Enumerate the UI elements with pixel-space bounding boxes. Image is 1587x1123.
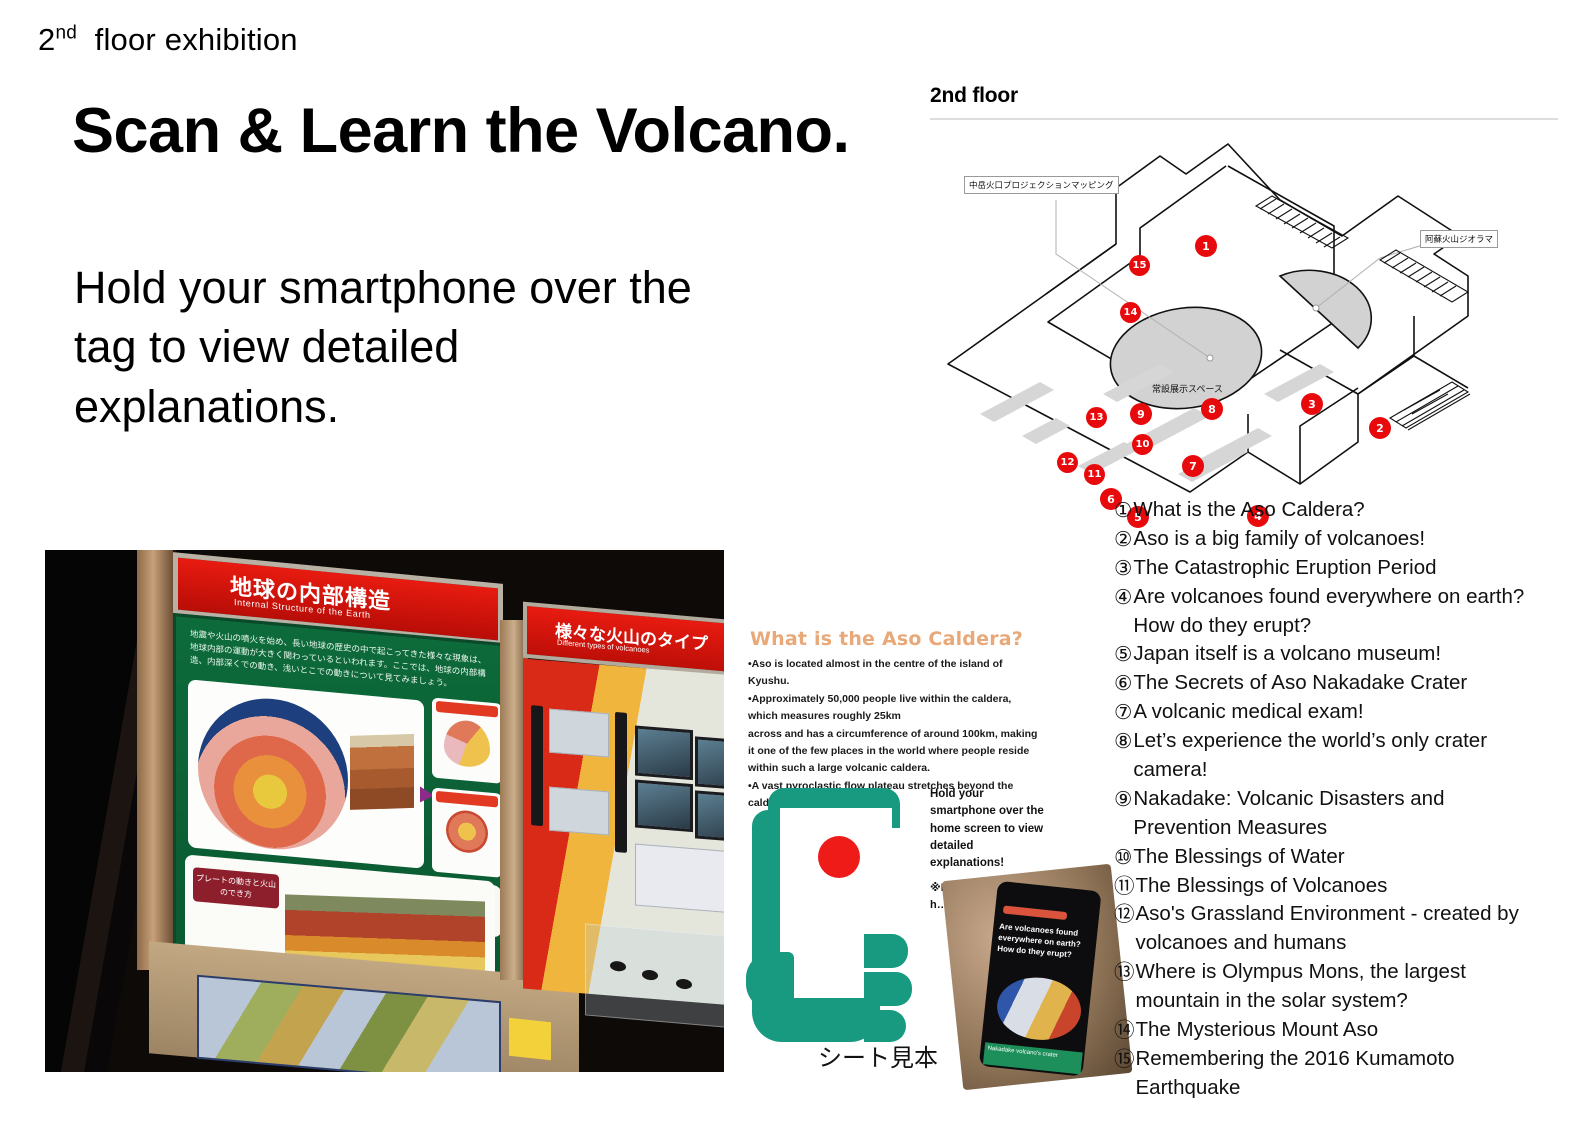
topic-label: The Secrets of Aso Nakadake Crater xyxy=(1133,669,1526,698)
topic-item[interactable]: ⑥The Secrets of Aso Nakadake Crater xyxy=(1114,669,1526,698)
phone-overlay-text: Are volcanoes found everywhere on earth?… xyxy=(997,922,1091,962)
floorplan-pin-13[interactable]: 13 xyxy=(1086,407,1107,428)
topic-label: The Blessings of Volcanoes xyxy=(1136,872,1527,901)
app-title-bar xyxy=(1003,905,1067,920)
topic-item[interactable]: ⑨Nakadake: Volcanic Disasters and Preven… xyxy=(1114,785,1526,843)
topic-number: ⑬ xyxy=(1114,958,1135,987)
topic-number: ⑫ xyxy=(1114,900,1135,929)
topic-label: The Mysterious Mount Aso xyxy=(1136,1016,1527,1045)
photo-display-case xyxy=(585,923,724,1028)
floorplan-pin-2[interactable]: 2 xyxy=(1369,417,1391,439)
topic-label: Where is Olympus Mons, the largest mount… xyxy=(1136,958,1527,1016)
kicker-rest: floor exhibition xyxy=(95,22,298,57)
sheet-hold-instruction: Hold your smartphone over the home scree… xyxy=(930,786,1048,872)
topic-number: ③ xyxy=(1114,554,1132,583)
sheet-bullet-2: •Approximately 50,000 people live within… xyxy=(748,691,1044,725)
nfc-tag-dot-icon xyxy=(818,836,860,878)
topic-number: ⑭ xyxy=(1114,1016,1135,1045)
label-permanent-exhibition-space: 常設展示スペース xyxy=(1152,382,1223,395)
topic-number: ② xyxy=(1114,525,1132,554)
topic-item[interactable]: ③The Catastrophic Eruption Period xyxy=(1114,554,1526,583)
topic-item[interactable]: ⑧Let’s experience the world’s only crate… xyxy=(1114,727,1526,785)
topic-number: ⑨ xyxy=(1114,785,1132,814)
topic-label: Nakadake: Volcanic Disasters and Prevent… xyxy=(1133,785,1526,843)
plate-wedge-graphic xyxy=(444,719,490,769)
lead-instruction: Hold your smartphone over the tag to vie… xyxy=(74,258,714,436)
topic-number: ⑦ xyxy=(1114,698,1132,727)
topic-number: ⑪ xyxy=(1114,872,1135,901)
topic-label: Aso is a big family of volcanoes! xyxy=(1133,525,1526,554)
plates-card-header xyxy=(436,701,498,718)
sheet-bullet-3: across and has a circumference of around… xyxy=(748,726,1044,777)
topic-item[interactable]: ⑤Japan itself is a volcano museum! xyxy=(1114,640,1526,669)
exhibit-photo: 地球の内部構造 Internal Structure of the Earth … xyxy=(45,550,724,1072)
photo-yellow-box xyxy=(509,1018,551,1060)
floorplan-pin-1[interactable]: 1 xyxy=(1195,235,1217,257)
smartphone-device: Are volcanoes found everywhere on earth?… xyxy=(979,881,1102,1077)
page-title: Scan & Learn the Volcano. xyxy=(72,95,850,167)
topic-number: ① xyxy=(1114,496,1132,525)
floorplan-pin-15[interactable]: 15 xyxy=(1129,255,1150,276)
topic-label: What is the Aso Caldera? xyxy=(1133,496,1526,525)
hand-holding-sheet-illustration xyxy=(746,784,924,1054)
floorplan-pin-12[interactable]: 12 xyxy=(1057,452,1078,473)
panel1-plates-card xyxy=(432,697,502,783)
topic-list: ①What is the Aso Caldera?②Aso is a big f… xyxy=(1114,496,1526,1103)
plate-motion-caption: プレートの動きと火山のでき方 xyxy=(193,867,279,909)
label-projection-mapping: 中岳火口プロジェクションマッピング xyxy=(964,176,1119,194)
topic-label: The Blessings of Water xyxy=(1133,843,1526,872)
floorplan-pin-11[interactable]: 11 xyxy=(1084,464,1105,485)
panel2-monitor-4 xyxy=(695,790,724,843)
topic-number: ⑥ xyxy=(1114,669,1132,698)
floorplan-title: 2nd floor xyxy=(930,84,1018,108)
topic-number: ⑤ xyxy=(1114,640,1132,669)
kicker-ordinal-suffix: nd xyxy=(55,23,77,44)
phone-ar-content-icon xyxy=(994,973,1084,1043)
sheet-bullet-1: •Aso is located almost in the centre of … xyxy=(748,656,1044,690)
crust-block-graphic xyxy=(350,734,414,810)
topic-number: ⑮ xyxy=(1114,1045,1135,1074)
topic-label: Let’s experience the world’s only crater… xyxy=(1133,727,1526,785)
panel2-monitor-1 xyxy=(635,726,693,781)
floorplan-pin-3[interactable]: 3 xyxy=(1301,393,1323,415)
topic-item[interactable]: ⑦A volcanic medical exam! xyxy=(1114,698,1526,727)
hand-finger-icon-2 xyxy=(864,972,912,1006)
hand-finger-icon-1 xyxy=(864,934,908,968)
sheet-sample-block: What is the Aso Caldera? •Aso is located… xyxy=(744,624,1060,1074)
topic-label: A volcanic medical exam! xyxy=(1133,698,1526,727)
topic-item[interactable]: ④Are volcanoes found everywhere on earth… xyxy=(1114,583,1526,641)
topic-number: ⑩ xyxy=(1114,843,1132,872)
panel2-vertical-tab-1 xyxy=(531,705,543,826)
panel2-info-strip xyxy=(635,844,724,915)
floorplan-pin-8[interactable]: 8 xyxy=(1201,398,1223,420)
topic-item[interactable]: ⑭The Mysterious Mount Aso xyxy=(1114,1016,1526,1045)
topic-label: Japan itself is a volcano museum! xyxy=(1133,640,1526,669)
topic-item[interactable]: ⑮Remembering the 2016 Kumamoto Earthquak… xyxy=(1114,1045,1526,1103)
topic-label: The Catastrophic Eruption Period xyxy=(1133,554,1526,583)
floorplan-stage: 中岳火口プロジェクションマッピング 阿蘇火山ジオラマ 常設展示スペース 1151… xyxy=(928,126,1560,502)
floorplan-pin-9[interactable]: 9 xyxy=(1130,403,1152,425)
topic-item[interactable]: ⑬Where is Olympus Mons, the largest moun… xyxy=(1114,958,1526,1016)
panel1-earth-diagram xyxy=(188,679,424,868)
panel1-what-is-plate-card xyxy=(432,787,502,877)
topic-label: Aso's Grassland Environment - created by… xyxy=(1136,900,1527,958)
panel2-photo-thumb-1 xyxy=(549,709,609,758)
label-volcano-diorama: 阿蘇火山ジオラマ xyxy=(1420,230,1498,248)
topic-item[interactable]: ①What is the Aso Caldera? xyxy=(1114,496,1526,525)
earth-cutaway-graphic xyxy=(198,692,348,856)
floorplan-divider xyxy=(930,118,1558,120)
display-artifact-2 xyxy=(642,969,658,980)
sheet-sample-caption: シート見本 xyxy=(818,1038,938,1073)
phone-footer-text: Nakadake volcano's crater xyxy=(983,1042,1083,1074)
topic-item[interactable]: ⑩The Blessings of Water xyxy=(1114,843,1526,872)
floorplan-pin-7[interactable]: 7 xyxy=(1182,455,1204,477)
display-artifact-3 xyxy=(676,978,692,989)
topic-label: Are volcanoes found everywhere on earth?… xyxy=(1133,583,1526,641)
panel2-photo-thumb-2 xyxy=(549,787,609,836)
exhibit-blob-right xyxy=(1280,270,1371,348)
hand-thumb-icon xyxy=(746,952,794,1010)
topic-number: ④ xyxy=(1114,583,1132,612)
topic-item[interactable]: ②Aso is a big family of volcanoes! xyxy=(1114,525,1526,554)
sheet-sample-title: What is the Aso Caldera? xyxy=(750,628,1023,650)
floorplan-pin-14[interactable]: 14 xyxy=(1120,302,1141,323)
topic-item[interactable]: ⑪The Blessings of Volcanoes xyxy=(1114,872,1526,901)
topic-number: ⑧ xyxy=(1114,727,1132,756)
floor-kicker: 2nd floor exhibition xyxy=(38,22,298,58)
panel2-monitor-2 xyxy=(695,736,724,791)
photo-pillar-left xyxy=(137,550,173,970)
topic-label: Remembering the 2016 Kumamoto Earthquake xyxy=(1136,1045,1527,1103)
floorplan: 2nd floor xyxy=(928,82,1560,502)
topic-item[interactable]: ⑫Aso's Grassland Environment - created b… xyxy=(1114,900,1526,958)
floorplan-pin-10[interactable]: 10 xyxy=(1132,434,1153,455)
smartphone-photo: Are volcanoes found everywhere on earth?… xyxy=(941,864,1132,1091)
panel2-monitor-3 xyxy=(635,780,693,833)
panel2-vertical-tab-2 xyxy=(615,712,627,853)
what-is-plate-header xyxy=(436,791,498,808)
display-artifact-1 xyxy=(610,961,626,972)
plate-disc-graphic xyxy=(446,809,488,855)
kicker-number: 2 xyxy=(38,22,55,57)
